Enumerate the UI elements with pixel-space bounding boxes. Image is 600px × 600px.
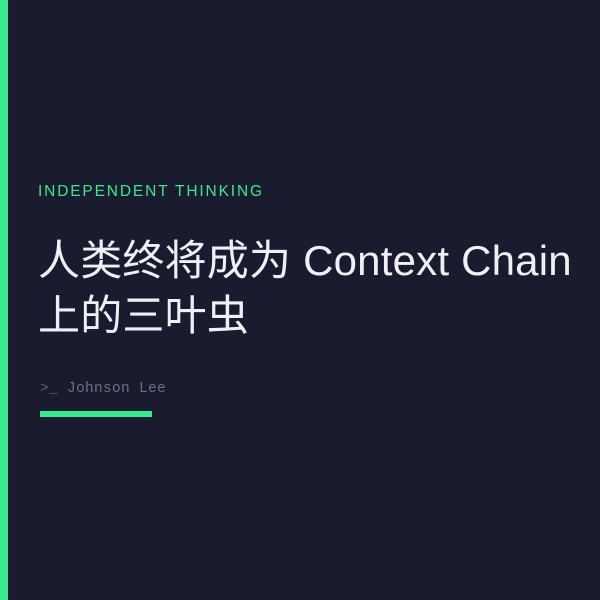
author-byline: >_ Johnson Lee: [40, 382, 166, 397]
terminal-prompt-icon: >_: [40, 381, 58, 397]
eyebrow-label: INDEPENDENT THINKING: [38, 184, 264, 200]
left-accent-stripe: [0, 0, 8, 600]
author-name-text: Johnson Lee: [67, 381, 166, 397]
accent-underline-bar: [40, 411, 152, 417]
social-quote-card: INDEPENDENT THINKING 人类终将成为 Context Chai…: [0, 0, 600, 600]
author-name: [58, 381, 67, 397]
page-title: 人类终将成为 Context Chain 上的三叶虫: [38, 233, 574, 343]
card-content: INDEPENDENT THINKING 人类终将成为 Context Chai…: [38, 0, 586, 600]
